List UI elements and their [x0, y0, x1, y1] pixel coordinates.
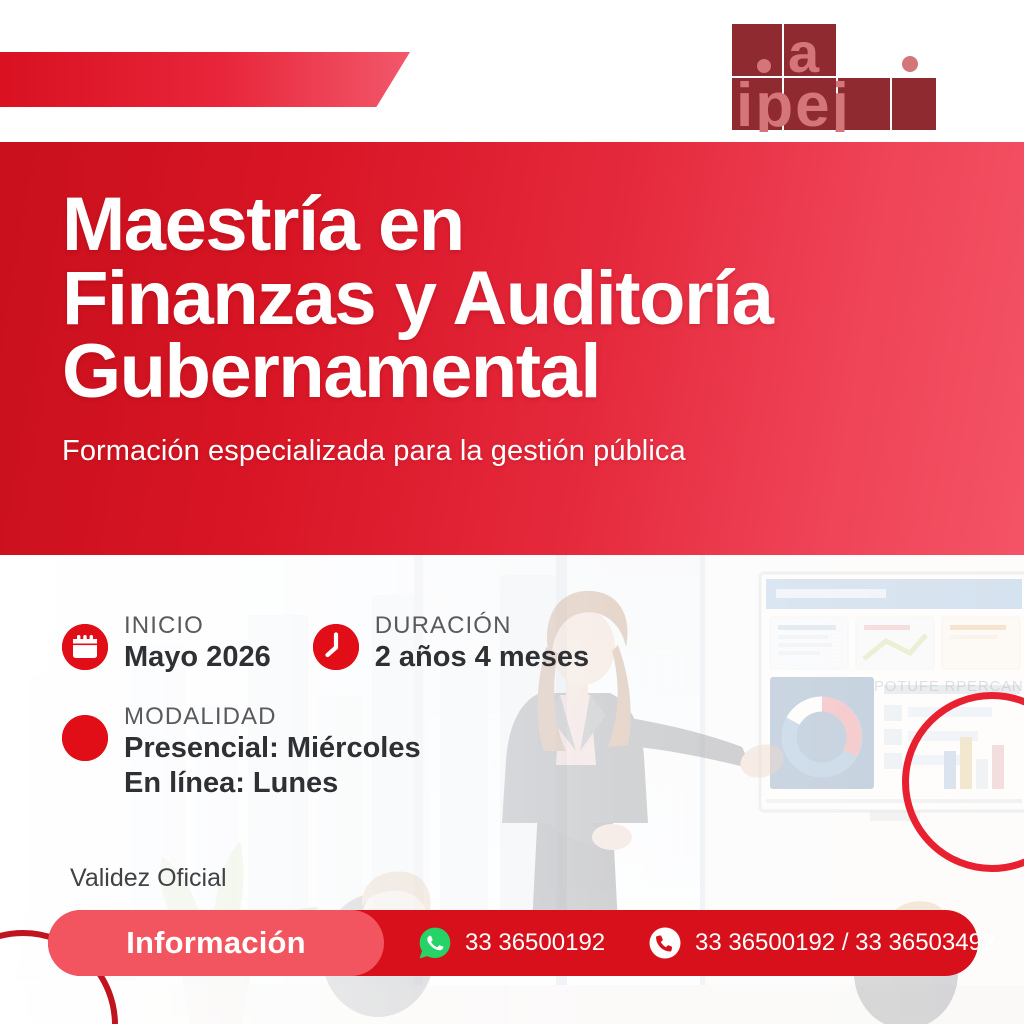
informacion-pill[interactable]: Información	[48, 910, 384, 976]
validez-oficial-label: Validez Oficial	[70, 864, 227, 893]
title-line-2: Finanzas y Auditoría	[62, 262, 984, 336]
page-subtitle: Formación especializada para la gestión …	[62, 435, 984, 468]
title-line-3: Gubernamental	[62, 335, 984, 409]
top-accent-banner	[0, 52, 410, 107]
details-row-2: MODALIDAD Presencial: Miércoles En línea…	[62, 703, 589, 801]
ipej-logo: a ipej	[730, 22, 938, 132]
whatsapp-icon	[418, 926, 452, 960]
informacion-pill-label: Información	[126, 925, 306, 961]
detail-inicio-label: INICIO	[124, 612, 271, 640]
clock-icon	[313, 624, 359, 670]
whatsapp-contact[interactable]: 33 36500192	[418, 926, 605, 960]
header-band: Maestría en Finanzas y Auditoría Guberna…	[0, 142, 1024, 555]
detail-modalidad-label: MODALIDAD	[124, 703, 421, 731]
detail-modalidad: MODALIDAD Presencial: Miércoles En línea…	[62, 703, 421, 801]
poster: POTUFE RPERCANCES	[0, 0, 1024, 1024]
phone-icon	[648, 926, 682, 960]
details-row-1: INICIO Mayo 2026 DURACIÓN 2 años 4 meses	[62, 612, 589, 675]
calendar-icon	[62, 624, 108, 670]
phone-number: 33 36500192 / 33 36503492	[695, 929, 995, 957]
detail-modalidad-value-2: En línea: Lunes	[124, 766, 421, 801]
detail-modalidad-text: MODALIDAD Presencial: Miércoles En línea…	[124, 703, 421, 801]
phone-contact[interactable]: 33 36500192 / 33 36503492	[648, 926, 995, 960]
contact-bar: Información 33 36500192 33 36500192 / 33…	[48, 910, 978, 976]
circle-icon	[62, 715, 108, 761]
page-title: Maestría en Finanzas y Auditoría Guberna…	[62, 188, 984, 409]
detail-modalidad-value-1: Presencial: Miércoles	[124, 731, 421, 766]
detail-inicio-text: INICIO Mayo 2026	[124, 612, 271, 675]
detail-inicio: INICIO Mayo 2026	[62, 612, 271, 675]
detail-inicio-value: Mayo 2026	[124, 640, 271, 675]
detail-duracion: DURACIÓN 2 años 4 meses	[313, 612, 589, 675]
whatsapp-number: 33 36500192	[465, 929, 605, 957]
detail-duracion-label: DURACIÓN	[375, 612, 589, 640]
detail-duracion-text: DURACIÓN 2 años 4 meses	[375, 612, 589, 675]
details-section: INICIO Mayo 2026 DURACIÓN 2 años 4 meses	[62, 612, 589, 801]
detail-duracion-value: 2 años 4 meses	[375, 640, 589, 675]
logo-j-dot	[902, 56, 918, 72]
title-line-1: Maestría en	[62, 188, 984, 262]
logo-letters-ipej: ipej	[736, 71, 851, 132]
